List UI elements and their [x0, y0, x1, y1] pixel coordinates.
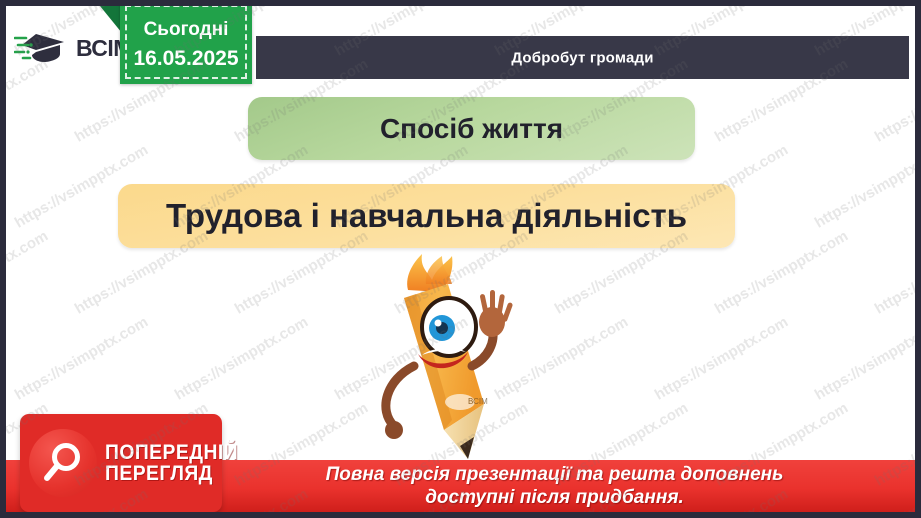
- content-box-activity: Трудова і навчальна діяльність: [118, 184, 735, 248]
- today-date-badge: Сьогодні 16.05.2025: [120, 6, 252, 84]
- mascot-eye: [422, 298, 476, 356]
- slide-canvas: Добробут громади: [6, 6, 915, 512]
- preview-badge[interactable]: ПОПЕРЕДНІЙ ПЕРЕГЛЯД: [20, 414, 222, 512]
- magnifier-icon: [29, 429, 97, 497]
- svg-text:ВСІМ: ВСІМ: [468, 397, 488, 406]
- preview-badge-labels: ПОПЕРЕДНІЙ ПЕРЕГЛЯД: [105, 442, 250, 485]
- watermark-text: https://vsimpptx.com: [812, 141, 915, 231]
- date-label: Сьогодні: [120, 16, 252, 44]
- watermark-text: https://vsimpptx.com: [652, 313, 791, 403]
- content-box-label: Спосіб життя: [380, 113, 563, 145]
- watermark-text: https://vsimpptx.com: [12, 313, 151, 403]
- watermark-text: https://vsimpptx.com: [872, 227, 915, 317]
- page-title: Добробут громади: [256, 49, 909, 66]
- slide-header-bar: Добробут громади: [256, 36, 909, 79]
- pencil-mascot: ВСІМ: [356, 254, 566, 466]
- preview-badge-line2: ПЕРЕГЛЯД: [105, 463, 238, 484]
- watermark-text: https://vsimpptx.com: [812, 313, 915, 403]
- purchase-notice-line2: доступні після придбання.: [216, 486, 893, 509]
- purchase-notice-line1: Повна версія презентації та решта доповн…: [216, 463, 893, 486]
- date-badge-text: Сьогодні 16.05.2025: [120, 6, 252, 74]
- watermark-text: https://vsimpptx.com: [172, 313, 311, 403]
- presentation-slide: Добробут громади: [0, 0, 921, 518]
- watermark-text: https://vsimpptx.com: [6, 227, 51, 317]
- date-value: 16.05.2025: [120, 44, 252, 74]
- purchase-notice-text: Повна версія презентації та решта доповн…: [216, 463, 893, 509]
- content-box-lifestyle: Спосіб життя: [248, 97, 695, 160]
- preview-badge-line1: ПОПЕРЕДНІЙ: [105, 442, 238, 463]
- mascot-hand-right: [479, 290, 513, 337]
- content-box-label: Трудова і навчальна діяльність: [166, 197, 687, 235]
- mascot-hand-left: [385, 421, 403, 439]
- graduation-cap-icon: [14, 30, 70, 66]
